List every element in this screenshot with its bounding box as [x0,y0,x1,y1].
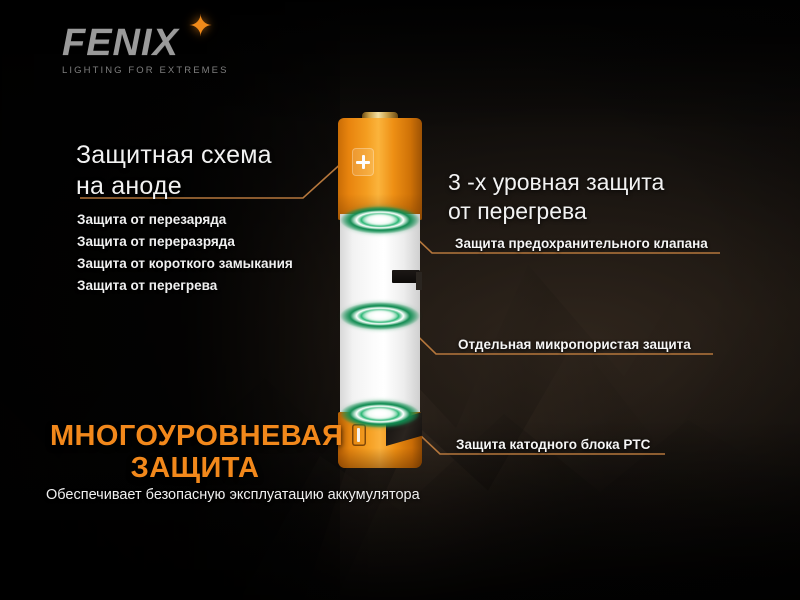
footer-title-line2: ЗАЩИТА [50,452,340,484]
list-item: Защита от перегрева [77,275,293,297]
list-item: Защита от короткого замыкания [77,253,293,275]
star-icon: ✦ [188,12,218,42]
brand-name: FENIX [62,24,262,62]
right-heading-line1: 3 -х уровная защита [448,168,664,197]
brand-logo: ✦ FENIX LIGHTING FOR EXTREMES [62,24,262,76]
minus-symbol-icon [352,424,366,446]
footer-title-line1: МНОГОУРОВНЕВАЯ [50,420,340,452]
list-item: Защита от переразряда [77,231,293,253]
list-item: Защита от перезаряда [77,209,293,231]
left-bullet-list: Защита от перезаряда Защита от переразря… [77,209,293,296]
right-heading-line2: от перегрева [448,197,664,226]
callout-microporous: Отдельная микропористая защита [458,337,691,352]
callout-ptc: Защита катодного блока PTC [456,437,650,452]
infographic-canvas: ✦ FENIX LIGHTING FOR EXTREMES [0,0,800,600]
battery-middle-section [340,214,420,419]
left-heading-line2: на аноде [76,171,272,202]
plus-symbol-icon [352,148,374,176]
battery-right-edge [416,272,422,290]
left-heading: Защитная схема на аноде [76,140,272,201]
brand-tagline: LIGHTING FOR EXTREMES [62,65,262,76]
footer-subtitle: Обеспечивает безопасную эксплуатацию акк… [46,487,420,503]
battery-top-section [338,118,422,220]
left-heading-line1: Защитная схема [76,140,272,171]
right-heading: 3 -х уровная защита от перегрева [448,168,664,225]
battery-illustration [338,112,422,468]
footer-title: МНОГОУРОВНЕВАЯ ЗАЩИТА [50,420,340,485]
callout-safety-valve: Защита предохранительного клапана [455,236,708,251]
